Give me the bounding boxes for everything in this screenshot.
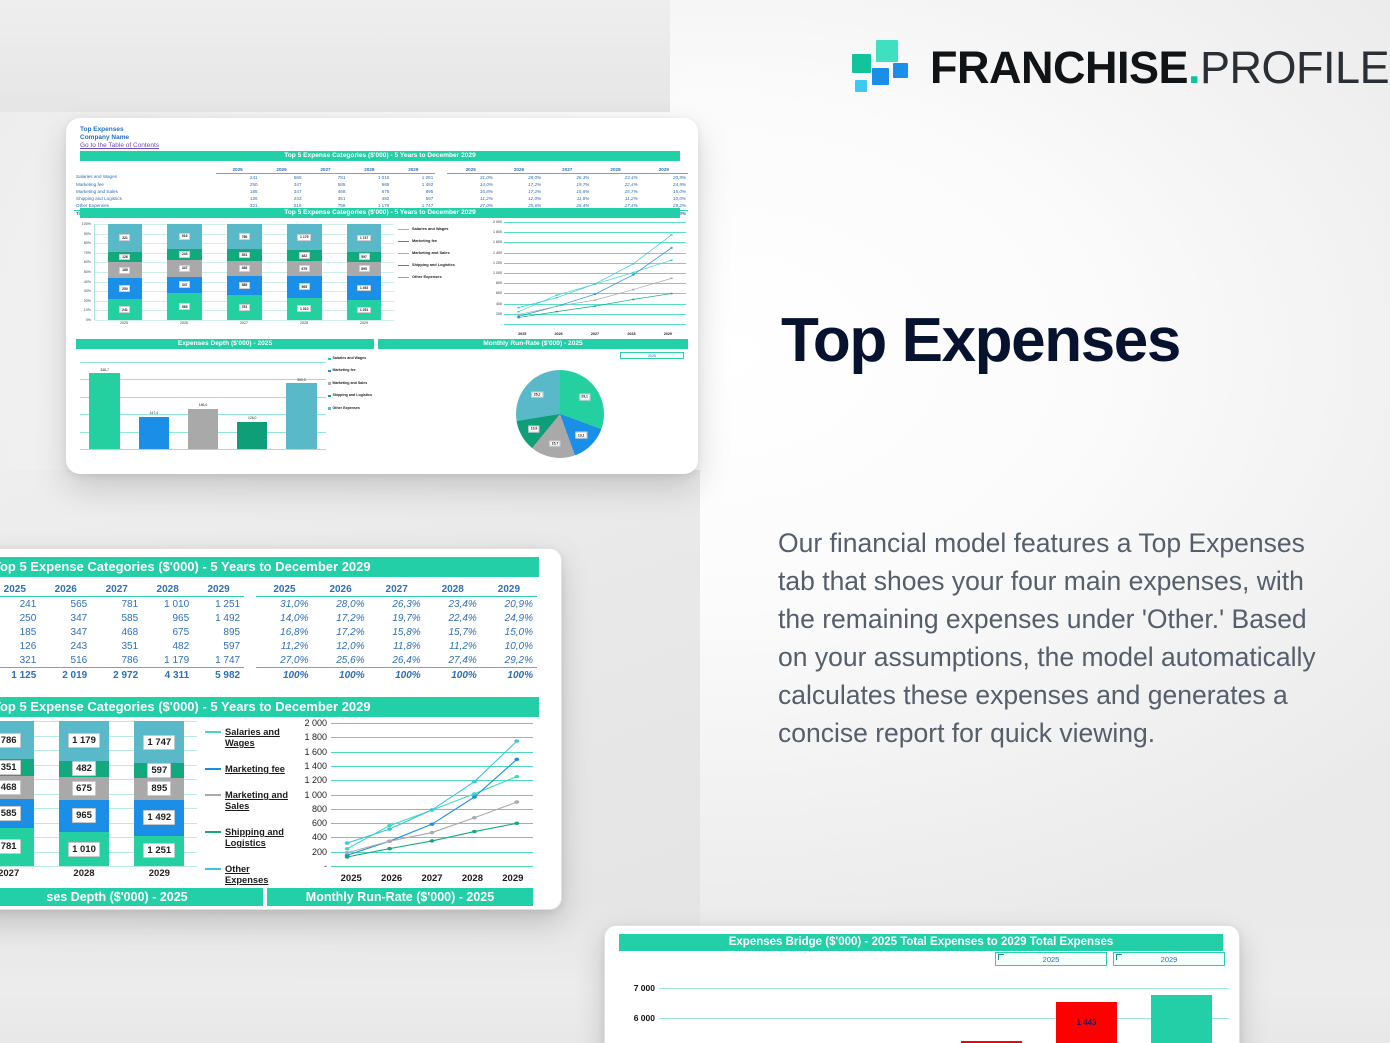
bar[interactable]: 348,7 xyxy=(89,373,120,449)
bar-segment: 565 xyxy=(167,293,202,320)
column-header: 2029 xyxy=(193,582,244,597)
column-group: 786351468585781 xyxy=(215,224,275,320)
y-tick: 80% xyxy=(84,241,91,245)
y-tick: 2 000 xyxy=(493,220,502,224)
legend-item: Marketing fee xyxy=(205,764,291,775)
pct-cell: 26,3% xyxy=(369,597,425,612)
data-point xyxy=(632,263,635,265)
data-point xyxy=(555,305,558,307)
bar[interactable]: 126,0 xyxy=(237,422,268,449)
waterfall-group: 471 xyxy=(944,970,1039,1043)
brand-name-dot: . xyxy=(1188,42,1200,93)
pct-cell: 16,8% xyxy=(447,188,495,195)
value-cell: 351 xyxy=(304,195,348,202)
column-header: 2027 xyxy=(304,166,348,174)
legend-swatch xyxy=(205,731,221,733)
table-header-row: 2025202620272028202920252026202720282029 xyxy=(0,582,537,597)
bar-segment: 585 xyxy=(0,799,34,828)
stacked-bar[interactable]: 1 7475978951 4921 251 xyxy=(134,721,184,866)
plot-area: 348,7147,4186,0126,0303,3 xyxy=(80,362,326,450)
stacked-bar[interactable]: 786351468585781 xyxy=(227,224,262,320)
screenshot-top-expenses-sheet[interactable]: Top Expenses Company Name Go to the Tabl… xyxy=(66,118,698,474)
gridline xyxy=(0,866,197,867)
data-point xyxy=(594,283,597,285)
pct-cell: 26,4% xyxy=(369,653,425,668)
value-cell: 468 xyxy=(91,625,142,639)
pct-cell: 12,0% xyxy=(313,639,369,653)
pct-cell: 22,4% xyxy=(425,611,481,625)
gap-cell xyxy=(244,653,256,668)
legend-label: Marketing fee xyxy=(225,764,285,775)
table-row: 2503475859651 49214,0%17,2%19,7%22,4%24,… xyxy=(0,611,537,625)
column-header: 2028 xyxy=(142,582,193,597)
data-point xyxy=(517,307,520,309)
legend-item: Marketing fee xyxy=(328,368,390,372)
data-point xyxy=(517,314,520,316)
pct-cell: 15,8% xyxy=(369,625,425,639)
total-value: 1 125 xyxy=(0,668,40,683)
y-tick: 800 xyxy=(312,804,327,814)
stacked-bar[interactable]: 1 1794826759651 010 xyxy=(59,721,109,866)
plot-area: 7064711 443 xyxy=(659,970,1229,1043)
data-point xyxy=(345,847,350,850)
pct-column-header: 2026 xyxy=(313,582,369,597)
data-point xyxy=(387,827,392,830)
y-tick: 20% xyxy=(84,299,91,303)
column-header: 2028 xyxy=(347,166,391,174)
y-tick: 0% xyxy=(86,318,91,322)
data-point xyxy=(517,317,520,319)
gap-cell xyxy=(244,582,256,597)
y-tick: 800 xyxy=(496,281,502,285)
bl-expense-trend-line-chart[interactable]: Salaries and WagesMarketing feeMarketing… xyxy=(203,721,537,886)
plot-area xyxy=(331,723,533,866)
value-cell: 241 xyxy=(216,174,260,182)
chip-end-year[interactable]: 2029 xyxy=(1113,952,1225,966)
expenses-depth-bar-chart[interactable]: 348,7147,4186,0126,0303,3 xyxy=(76,356,326,460)
value-cell: 126 xyxy=(0,639,40,653)
pie-slice-label: 26,2 xyxy=(531,391,542,398)
expenses-bridge-waterfall-chart[interactable]: 4 0005 0006 0007 0007064711 443 xyxy=(617,970,1229,1043)
y-tick: 400 xyxy=(312,832,327,842)
top-chart-row: 0%10%20%30%40%50%60%70%80%90%100%3211261… xyxy=(76,222,688,336)
pct-cell: 11,2% xyxy=(425,639,481,653)
pct-cell: 27,4% xyxy=(425,653,481,668)
legend-swatch xyxy=(205,831,221,833)
column-group: 516243347347565 xyxy=(155,224,215,320)
bar-segment: 1 251 xyxy=(347,300,382,320)
data-point xyxy=(632,289,635,291)
pct-cell: 15,0% xyxy=(481,625,537,639)
y-axis: -2004006008001 0001 2001 4001 6001 8002 … xyxy=(486,222,503,324)
x-tick: 2025 xyxy=(94,321,154,325)
bar-value-label: 147,4 xyxy=(150,411,159,415)
column-group: 1 7475978951 4921 251 xyxy=(122,721,197,866)
row-label: Marketing and Sales xyxy=(74,188,216,195)
y-tick: - xyxy=(324,861,327,871)
value-cell: 1 492 xyxy=(193,611,244,625)
y-tick: 30% xyxy=(84,289,91,293)
waterfall-bar[interactable]: 1 443 xyxy=(1056,1002,1117,1043)
pct-cell: 12,0% xyxy=(495,195,543,202)
bl-band-chart: Top 5 Expense Categories ($'000) - 5 Yea… xyxy=(0,697,539,717)
screenshot-expenses-bridge[interactable]: Expenses Bridge ($'000) - 2025 Total Exp… xyxy=(604,925,1240,1043)
data-point xyxy=(387,847,392,850)
pct-column-header: 2027 xyxy=(369,582,425,597)
value-cell: 781 xyxy=(91,597,142,612)
y-tick: 1 600 xyxy=(304,747,327,757)
bar-group: 147,4 xyxy=(129,362,178,449)
plot-wrapper: -2004006008001 0001 2001 4001 6001 8002 … xyxy=(295,723,533,886)
legend-item: Salaries and Wages xyxy=(398,226,484,231)
x-tick: 2026 xyxy=(371,873,411,884)
waterfall-group: 1 443 xyxy=(1039,970,1134,1043)
bl-expense-table: 2025202620272028202920252026202720282029… xyxy=(0,582,537,682)
value-cell: 482 xyxy=(142,639,193,653)
bar-segment: 185 xyxy=(108,262,143,278)
screenshot-expense-categories-detail[interactable]: Top 5 Expense Categories ($'000) - 5 Yea… xyxy=(0,548,562,910)
bottom-chart-row: 348,7147,4186,0126,0303,3 Salaries and W… xyxy=(76,352,688,464)
bar-group: 186,0 xyxy=(178,362,227,449)
brand-name-bold: FRANCHISE xyxy=(930,42,1188,93)
y-tick: 10% xyxy=(84,308,91,312)
pct-total: 100% xyxy=(425,668,481,683)
legend-label: Salaries and Wages xyxy=(225,727,291,749)
stacked-100-column-chart[interactable]: 0%10%20%30%40%50%60%70%80%90%100%3211261… xyxy=(76,222,394,336)
pct-cell: 24,9% xyxy=(481,611,537,625)
data-point xyxy=(632,299,635,301)
legend-swatch xyxy=(328,407,331,410)
row-label: Marketing fee xyxy=(74,181,216,188)
stacked-bar[interactable]: 1 1794826759651 010 xyxy=(287,224,322,320)
bar[interactable]: 147,4 xyxy=(139,417,170,449)
column-header: 2025 xyxy=(216,166,260,174)
x-tick: 2028 xyxy=(452,873,492,884)
pct-cell: 19,7% xyxy=(543,181,591,188)
pct-cell: 23,4% xyxy=(591,174,639,182)
pct-cell: 16,8% xyxy=(256,625,312,639)
gap-cell xyxy=(244,597,256,612)
bar-segment: 1 492 xyxy=(134,800,184,836)
legend-item: Shipping and Logistics xyxy=(328,393,390,397)
pct-cell: 17,2% xyxy=(313,611,369,625)
pct-cell: 25,6% xyxy=(313,653,369,668)
value-cell: 1 251 xyxy=(193,597,244,612)
data-point xyxy=(345,841,350,844)
legend-item: Other Expenses xyxy=(398,274,484,279)
brand-wordmark: FRANCHISE.PROFILES xyxy=(930,45,1390,90)
value-cell: 1 179 xyxy=(142,653,193,668)
bar-segment: 965 xyxy=(287,276,322,297)
stacked-bar[interactable]: 516243347347565 xyxy=(167,224,202,320)
pct-cell: 29,2% xyxy=(481,653,537,668)
plot-area xyxy=(504,222,686,324)
legend-item: Other Expenses xyxy=(328,406,390,410)
plot-wrapper: -2004006008001 0001 2001 4001 6001 8002 … xyxy=(486,222,688,336)
data-point xyxy=(670,259,673,261)
value-cell: 185 xyxy=(0,625,40,639)
x-tick: 2025 xyxy=(331,873,371,884)
x-axis: 20252026202720282029 xyxy=(331,873,533,884)
bar-segment: 1 747 xyxy=(134,721,184,763)
bar-group: 303,3 xyxy=(277,362,326,449)
pct-column-header: 2026 xyxy=(495,166,543,174)
legend-swatch xyxy=(205,868,221,870)
y-tick: - xyxy=(501,322,502,326)
x-tick: 2029 xyxy=(650,332,686,336)
legend-item: Marketing fee xyxy=(398,238,484,243)
data-point xyxy=(430,839,435,842)
y-tick: 40% xyxy=(84,280,91,284)
bar-segment: 1 179 xyxy=(59,721,109,761)
y-tick: 1 800 xyxy=(304,732,327,742)
legend: Salaries and WagesMarketing feeMarketing… xyxy=(398,226,484,286)
stacked-bar[interactable]: 1 7475978951 4921 251 xyxy=(347,224,382,320)
bar-segment: 895 xyxy=(134,778,184,800)
bar-segment: 250 xyxy=(108,278,143,299)
data-point xyxy=(345,855,350,858)
data-point xyxy=(472,795,477,798)
x-axis: 202720282029 xyxy=(0,868,197,879)
pct-total: 100% xyxy=(481,668,537,683)
pct-column-header: 2029 xyxy=(640,166,688,174)
bar-segment: 786 xyxy=(227,224,262,249)
bar[interactable]: 186,0 xyxy=(188,409,219,449)
bar-segment: 347 xyxy=(167,277,202,294)
brand-name-thin: PROFILES xyxy=(1200,42,1390,93)
value-cell: 965 xyxy=(347,181,391,188)
value-cell: 1 747 xyxy=(193,653,244,668)
pct-total: 100% xyxy=(256,668,312,683)
bar-segment: 781 xyxy=(0,828,34,866)
run-rate-pie-wrap: 29,113,115,710,926,2 xyxy=(516,370,604,458)
value-cell: 185 xyxy=(216,188,260,195)
bar-segment: 243 xyxy=(167,249,202,261)
chip-start-year[interactable]: 2025 xyxy=(995,952,1107,966)
data-point xyxy=(517,311,520,313)
legend-label: Shipping and Logistics xyxy=(412,262,455,267)
pct-cell: 11,8% xyxy=(543,195,591,202)
x-tick: 2029 xyxy=(334,321,394,325)
line-series-svg xyxy=(504,222,686,324)
gap-cell xyxy=(435,174,446,182)
table-of-contents-link[interactable]: Go to the Table of Contents xyxy=(80,142,159,150)
legend-swatch xyxy=(205,794,221,796)
y-axis: 4 0005 0006 0007 000 xyxy=(617,970,657,1043)
y-tick: 70% xyxy=(84,251,91,255)
pct-cell: 31,0% xyxy=(256,597,312,612)
pct-cell: 17,2% xyxy=(495,188,543,195)
y-tick: 600 xyxy=(496,291,502,295)
table-row: Shipping and Logistics12624335148259711,… xyxy=(74,195,688,202)
value-cell: 241 xyxy=(0,597,40,612)
expense-trend-line-chart[interactable]: Salaries and WagesMarketing feeMarketing… xyxy=(398,222,688,336)
bar-segment: 675 xyxy=(287,261,322,276)
y-tick: 7 000 xyxy=(634,983,655,993)
total-value: 5 982 xyxy=(193,668,244,683)
bar-segment: 347 xyxy=(167,260,202,277)
bar-value-label: 126,0 xyxy=(248,416,257,420)
waterfall-group: 706 xyxy=(849,970,944,1043)
pct-cell: 26,3% xyxy=(543,174,591,182)
x-tick: 2028 xyxy=(46,868,121,879)
bar[interactable]: 303,3 xyxy=(286,383,317,449)
x-axis: 20252026202720282029 xyxy=(94,321,394,325)
bar-segment: 781 xyxy=(227,295,262,320)
value-cell: 1 010 xyxy=(347,174,391,182)
value-cell: 597 xyxy=(391,195,435,202)
value-cell: 126 xyxy=(216,195,260,202)
waterfall-group xyxy=(754,970,849,1043)
waterfall-bar[interactable] xyxy=(1151,995,1212,1043)
bl-stacked-column-chart[interactable]: 7863514685857811 1794826759651 0101 7475… xyxy=(0,721,211,886)
waterfall-group xyxy=(659,970,754,1043)
legend-label: Shipping and Logistics xyxy=(225,827,291,849)
total-value: 2 019 xyxy=(40,668,91,683)
column-header: 2029 xyxy=(391,166,435,174)
table-row: Marketing and Sales18534746867589516,8%1… xyxy=(74,188,688,195)
bar-segment: 675 xyxy=(59,777,109,800)
pct-cell: 17,2% xyxy=(313,625,369,639)
x-tick: 2028 xyxy=(274,321,334,325)
header-spacer xyxy=(74,166,216,174)
value-cell: 675 xyxy=(347,188,391,195)
bar-segment: 1 179 xyxy=(287,224,322,250)
monthly-run-rate-pie-chart[interactable]: 29,113,115,710,926,2 xyxy=(516,370,604,458)
pct-cell: 10,0% xyxy=(481,639,537,653)
legend-item: Salaries and Wages xyxy=(205,727,291,749)
bar-segment: 786 xyxy=(0,721,34,759)
data-point xyxy=(555,311,558,313)
data-point xyxy=(632,272,635,274)
bl-band-run-rate: Monthly Run-Rate ($'000) - 2025 xyxy=(267,888,533,906)
bar-segment: 1 010 xyxy=(287,298,322,320)
pct-column-header: 2025 xyxy=(256,582,312,597)
waterfall-group xyxy=(1134,970,1229,1043)
band-monthly-run-rate: Monthly Run-Rate ($'000) - 2025 xyxy=(378,339,688,349)
table-row: Marketing fee2503475859651 49214,0%17,2%… xyxy=(74,181,688,188)
run-rate-year-chip[interactable]: 2025 xyxy=(620,352,684,359)
row-label: Salaries and Wages xyxy=(74,174,216,182)
legend-label: Other Expenses xyxy=(333,406,360,410)
bar-value-label: 303,3 xyxy=(297,378,306,382)
legend-label: Marketing fee xyxy=(333,368,356,372)
gap-cell xyxy=(244,639,256,653)
slide-canvas: FRANCHISE.PROFILES Top Expenses Our fina… xyxy=(0,0,1390,1043)
sheet-company: Company Name xyxy=(80,134,159,142)
data-point xyxy=(555,294,558,296)
gap-cell xyxy=(435,195,446,202)
x-tick: 2027 xyxy=(214,321,274,325)
bar-segment: 516 xyxy=(167,224,202,249)
br-year-chips: 2025 2029 xyxy=(995,952,1225,966)
value-cell: 781 xyxy=(304,174,348,182)
band-expense-categories-chart: Top 5 Expense Categories ($'000) - 5 Yea… xyxy=(80,208,680,218)
y-axis: -2004006008001 0001 2001 4001 6001 8002 … xyxy=(295,723,329,866)
legend-label: Marketing and Sales xyxy=(412,250,450,255)
column-group: 786351468585781 xyxy=(0,721,46,866)
data-point xyxy=(514,739,519,742)
bar-segment: 597 xyxy=(134,763,184,778)
gap-cell xyxy=(435,181,446,188)
stacked-bar[interactable]: 321126185250241 xyxy=(108,224,143,320)
value-cell: 250 xyxy=(216,181,260,188)
gridline xyxy=(331,866,533,867)
total-value: 4 311 xyxy=(142,668,193,683)
value-cell: 1 010 xyxy=(142,597,193,612)
legend-item: Salaries and Wages xyxy=(328,356,390,360)
data-point xyxy=(594,293,597,295)
pct-cell: 11,2% xyxy=(591,195,639,202)
plot-area: 7863514685857811 1794826759651 0101 7475… xyxy=(0,721,197,866)
pct-column-header: 2029 xyxy=(481,582,537,597)
table-header-row: 2025202620272028202920252026202720282029 xyxy=(74,166,688,174)
data-point xyxy=(387,824,392,827)
value-cell: 895 xyxy=(193,625,244,639)
table-row: Salaries and Wages2415657811 0101 25131,… xyxy=(74,174,688,182)
value-cell: 347 xyxy=(40,625,91,639)
legend-item: Other Expenses xyxy=(205,864,291,886)
pct-cell: 20,9% xyxy=(640,174,688,182)
four-squares-logo-icon xyxy=(852,38,908,96)
bar-segment: 351 xyxy=(227,249,262,260)
pct-cell: 24,9% xyxy=(640,181,688,188)
pct-cell: 14,0% xyxy=(447,181,495,188)
data-point xyxy=(387,839,392,842)
pct-total: 100% xyxy=(313,668,369,683)
data-point xyxy=(514,822,519,825)
value-cell: 895 xyxy=(391,188,435,195)
data-point xyxy=(594,305,597,307)
table-row: 18534746867589516,8%17,2%15,8%15,7%15,0% xyxy=(0,625,537,639)
pct-cell: 27,0% xyxy=(256,653,312,668)
data-point xyxy=(472,780,477,783)
legend-swatch xyxy=(398,253,409,254)
value-cell: 347 xyxy=(40,611,91,625)
bar-value-label: 348,7 xyxy=(100,368,109,372)
data-point xyxy=(594,299,597,301)
y-axis: 0%10%20%30%40%50%60%70%80%90%100% xyxy=(76,224,93,320)
legend-label: Marketing fee xyxy=(412,238,437,243)
table-row: 2415657811 0101 25131,0%28,0%26,3%23,4%2… xyxy=(0,597,537,612)
bar-segment: 1 010 xyxy=(59,832,109,866)
pie-slice-label: 29,1 xyxy=(579,393,590,400)
stacked-bar[interactable]: 786351468585781 xyxy=(0,721,34,866)
expenses-depth-legend: Salaries and WagesMarketing feeMarketing… xyxy=(328,356,390,460)
data-point xyxy=(472,816,477,819)
bar-segment: 482 xyxy=(287,250,322,261)
pct-column-header: 2028 xyxy=(591,166,639,174)
pct-cell: 28,0% xyxy=(495,174,543,182)
y-tick: 1 600 xyxy=(493,240,502,244)
bl-band-categories: Top 5 Expense Categories ($'000) - 5 Yea… xyxy=(0,557,539,577)
gap-cell xyxy=(435,188,446,195)
column-group: 321126185250241 xyxy=(95,224,155,320)
pct-cell: 28,0% xyxy=(313,597,369,612)
gridline xyxy=(504,324,686,325)
x-tick: 2028 xyxy=(613,332,649,336)
bar-segment: 1 251 xyxy=(134,836,184,866)
band-expense-categories: Top 5 Expense Categories ($'000) - 5 Yea… xyxy=(80,151,680,161)
legend-swatch xyxy=(205,768,221,770)
legend-item: Marketing and Sales xyxy=(398,250,484,255)
pct-cell: 22,4% xyxy=(591,181,639,188)
pct-cell: 17,2% xyxy=(495,181,543,188)
gap-cell xyxy=(244,611,256,625)
data-point xyxy=(514,775,519,778)
value-cell: 347 xyxy=(260,188,304,195)
table-total-row: 1 1252 0192 9724 3115 982100%100%100%100… xyxy=(0,668,537,683)
